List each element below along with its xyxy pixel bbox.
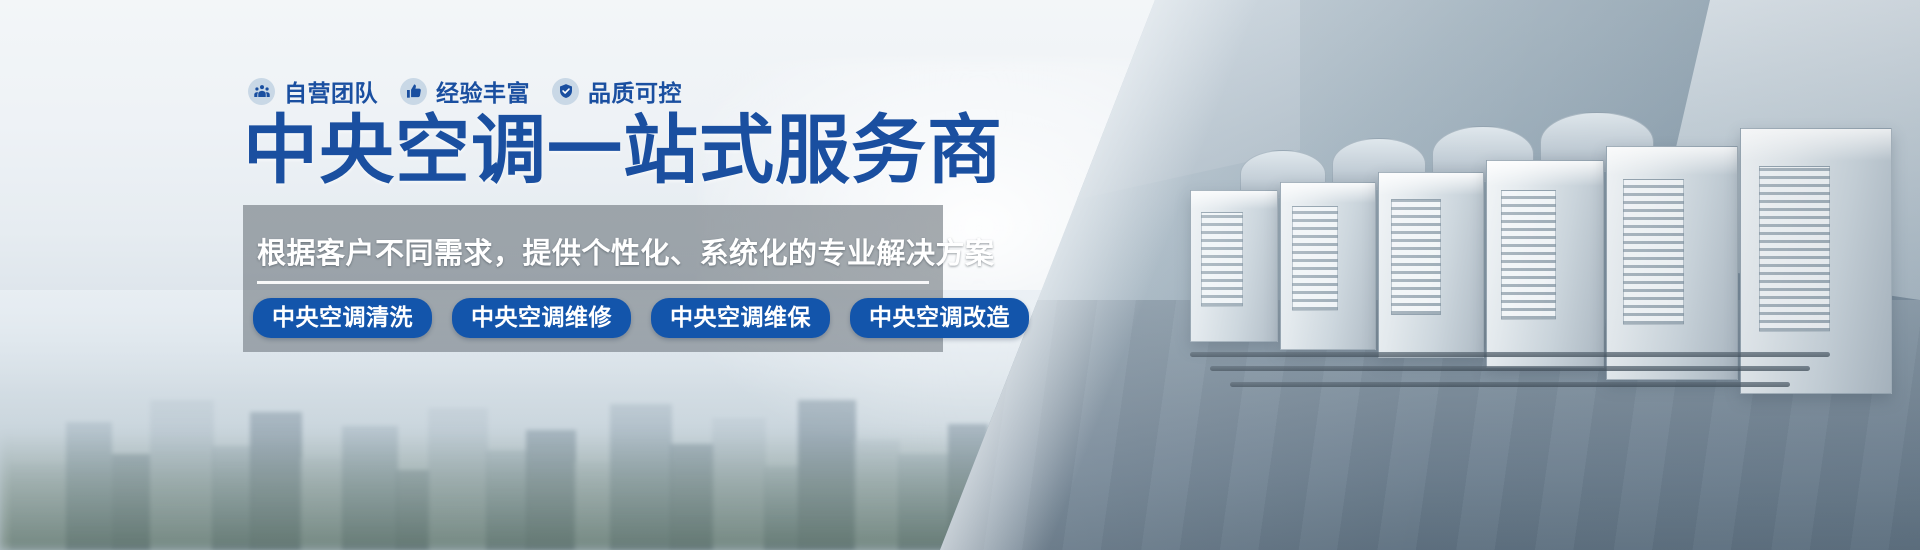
feature-label: 自营团队: [284, 74, 378, 108]
subtitle: 根据客户不同需求，提供个性化、系统化的专业解决方案: [257, 230, 995, 272]
service-tag-cleaning[interactable]: 中央空调清洗: [253, 298, 432, 338]
service-tag-repair[interactable]: 中央空调维修: [452, 298, 631, 338]
feature-item-rich-experience: 经验丰富: [400, 74, 530, 108]
banner-content: 自营团队 经验丰富 品质可控: [0, 0, 1000, 550]
service-tag-maintenance[interactable]: 中央空调维保: [651, 298, 830, 338]
thumbs-up-icon: [400, 78, 427, 105]
feature-item-quality-controllable: 品质可控: [552, 74, 682, 108]
service-tag-renovation[interactable]: 中央空调改造: [850, 298, 1029, 338]
hero-banner: 自营团队 经验丰富 品质可控: [0, 0, 1920, 550]
service-tag-list: 中央空调清洗 中央空调维修 中央空调维保 中央空调改造: [253, 298, 1029, 338]
feature-label: 品质可控: [588, 74, 682, 108]
feature-list: 自营团队 经验丰富 品质可控: [248, 74, 682, 108]
description-panel: 根据客户不同需求，提供个性化、系统化的专业解决方案 中央空调清洗 中央空调维修 …: [243, 205, 943, 352]
divider: [257, 281, 929, 284]
page-title: 中央空调一站式服务商: [243, 113, 1003, 188]
feature-label: 经验丰富: [436, 74, 530, 108]
shield-check-icon: [552, 78, 579, 105]
feature-item-self-operated-team: 自营团队: [248, 74, 378, 108]
group-people-icon: [248, 78, 275, 105]
